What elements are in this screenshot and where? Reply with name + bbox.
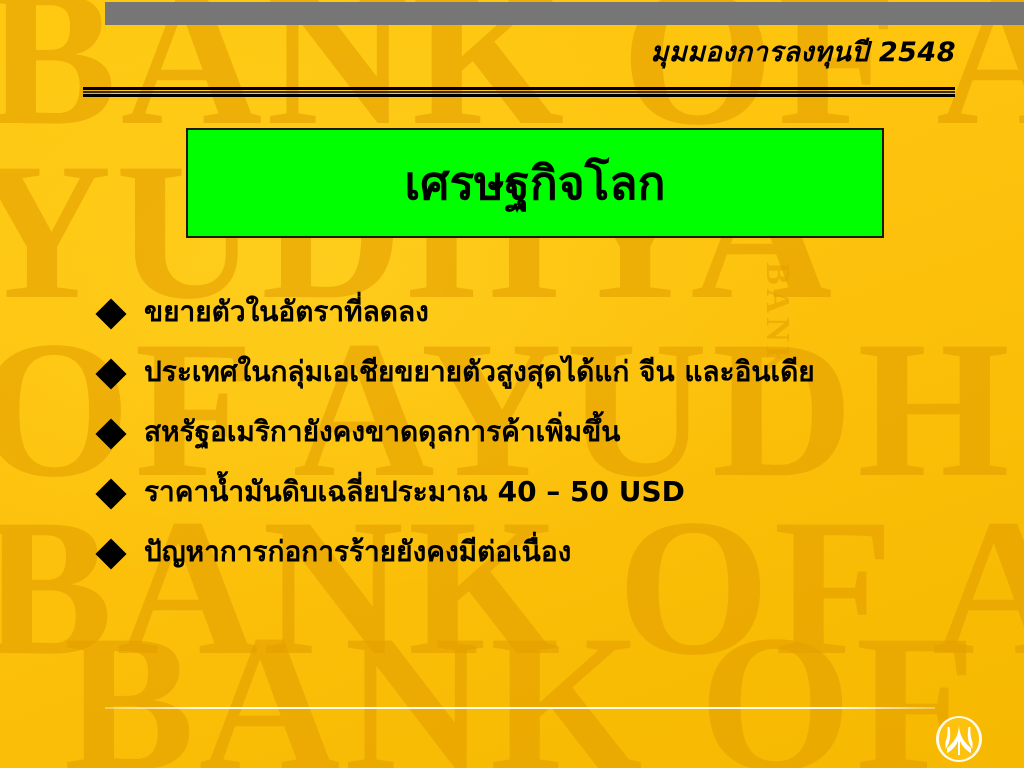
- footer-divider-rule: [105, 707, 935, 709]
- list-item: ขยายตัวในอัตราที่ลดลง: [100, 295, 1005, 328]
- list-item: ราคาน้ำมันดิบเฉลี่ยประมาณ 40 – 50 USD: [100, 475, 1005, 508]
- diamond-bullet-icon: [95, 358, 126, 389]
- list-item: ปัญหาการก่อการร้ายยังคงมีต่อเนื่อง: [100, 535, 1005, 568]
- top-gray-band: [105, 2, 1024, 25]
- list-item: ประเทศในกลุ่มเอเชียขยายตัวสูงสุดได้แก่ จ…: [100, 355, 1005, 388]
- diamond-bullet-icon: [95, 479, 126, 510]
- bullet-list: ขยายตัวในอัตราที่ลดลง ประเทศในกลุ่มเอเชี…: [100, 295, 1005, 595]
- diamond-bullet-icon: [95, 298, 126, 329]
- header-divider-rule: [83, 87, 955, 98]
- slide-header-title: มุมมองการลงทุนปี 2548: [651, 38, 956, 68]
- diamond-bullet-icon: [95, 419, 126, 450]
- list-item-label: สหรัฐอเมริกายังคงขาดดุลการค้าเพิ่มขึ้น: [144, 415, 1005, 448]
- list-item: สหรัฐอเมริกายังคงขาดดุลการค้าเพิ่มขึ้น: [100, 415, 1005, 448]
- list-item-label: ประเทศในกลุ่มเอเชียขยายตัวสูงสุดได้แก่ จ…: [144, 355, 1005, 388]
- slide-title-box: เศรษฐกิจโลก: [186, 128, 884, 238]
- list-item-label: ปัญหาการก่อการร้ายยังคงมีต่อเนื่อง: [144, 535, 1005, 568]
- rule-line-top: [83, 87, 955, 90]
- rule-line-middle: [83, 91, 955, 93]
- watermark-text-row-5: BANK OF: [64, 624, 979, 768]
- rule-line-bottom: [83, 94, 955, 97]
- list-item-label: ขยายตัวในอัตราที่ลดลง: [144, 295, 1005, 328]
- bank-of-ayudhya-logo: [934, 714, 984, 764]
- diamond-bullet-icon: [95, 539, 126, 570]
- presentation-slide: BANK OF A YUDHYA OF AYUDH BANK OF AYUDH …: [0, 0, 1024, 768]
- slide-title-text: เศรษฐกิจโลก: [405, 159, 666, 207]
- list-item-label: ราคาน้ำมันดิบเฉลี่ยประมาณ 40 – 50 USD: [144, 475, 1005, 508]
